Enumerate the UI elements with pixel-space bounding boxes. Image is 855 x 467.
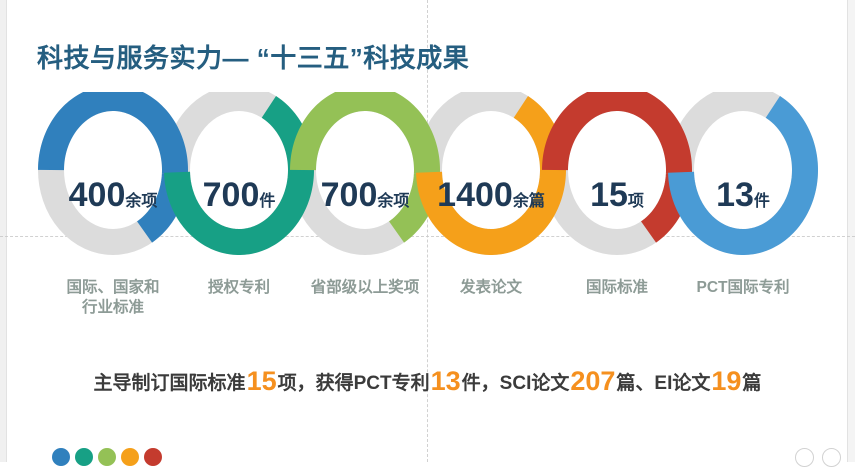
summary-line: 主导制订国际标准15项，获得PCT专利13件，SCI论文207篇、EI论文19篇 [0, 366, 855, 397]
footer-color-dots [52, 448, 167, 462]
footer-dot-0 [52, 448, 70, 466]
ring-unit-0: 余项 [124, 191, 157, 210]
ring-unit-1: 件 [259, 191, 275, 210]
summary-number-ei: 19 [710, 366, 742, 396]
ring-number-3: 1400 [437, 176, 513, 214]
ring-value-5: 13件 [716, 176, 770, 214]
ring-value-2: 700余项 [321, 176, 410, 214]
ring-chain-graphic: 400余项700件700余项1400余篇15项13件 [0, 92, 855, 262]
slide-canvas: 科技与服务实力— “十三五”科技成果 400余项700件700余项1400余篇1… [0, 0, 855, 462]
ring-number-0: 400 [69, 176, 126, 214]
ring-unit-2: 余项 [376, 191, 409, 210]
summary-number-standards: 15 [246, 366, 278, 396]
footer-dot-2 [98, 448, 116, 466]
previous-slide-icon[interactable] [795, 448, 814, 467]
summary-part-1: 主导制订国际标准 [94, 373, 246, 394]
ring-number-2: 700 [321, 176, 378, 214]
ring-value-1: 700件 [203, 176, 276, 214]
slide-nav-controls[interactable] [791, 448, 841, 467]
ring-unit-5: 件 [754, 191, 770, 210]
page-title: 科技与服务实力— “十三五”科技成果 [37, 38, 469, 75]
footer-dot-4 [144, 448, 162, 466]
summary-part-3: 件，SCI论文 [462, 373, 570, 394]
summary-number-sci: 207 [569, 366, 616, 396]
ring-labels-row: 国际、国家和 行业标准 授权专利 省部级以上奖项 发表论文 国际标准 PCT国际… [0, 278, 855, 334]
ring-label-5: PCT国际专利 [668, 278, 818, 298]
ring-value-0: 400余项 [69, 176, 158, 214]
ring-number-5: 13 [716, 176, 754, 214]
footer-dot-1 [75, 448, 93, 466]
next-slide-icon[interactable] [822, 448, 841, 467]
summary-part-4: 篇、EI论文 [616, 373, 710, 394]
summary-part-5: 篇 [742, 373, 761, 394]
ring-unit-4: 项 [628, 192, 644, 210]
footer-dot-3 [121, 448, 139, 466]
ring-value-4: 15项 [590, 176, 644, 214]
summary-number-pct: 13 [430, 366, 462, 396]
ring-number-1: 700 [203, 176, 260, 214]
ring-number-4: 15 [590, 176, 628, 214]
ring-value-3: 1400余篇 [437, 176, 545, 214]
summary-part-2: 项，获得PCT专利 [278, 373, 430, 394]
ring-unit-3: 余篇 [512, 191, 545, 210]
